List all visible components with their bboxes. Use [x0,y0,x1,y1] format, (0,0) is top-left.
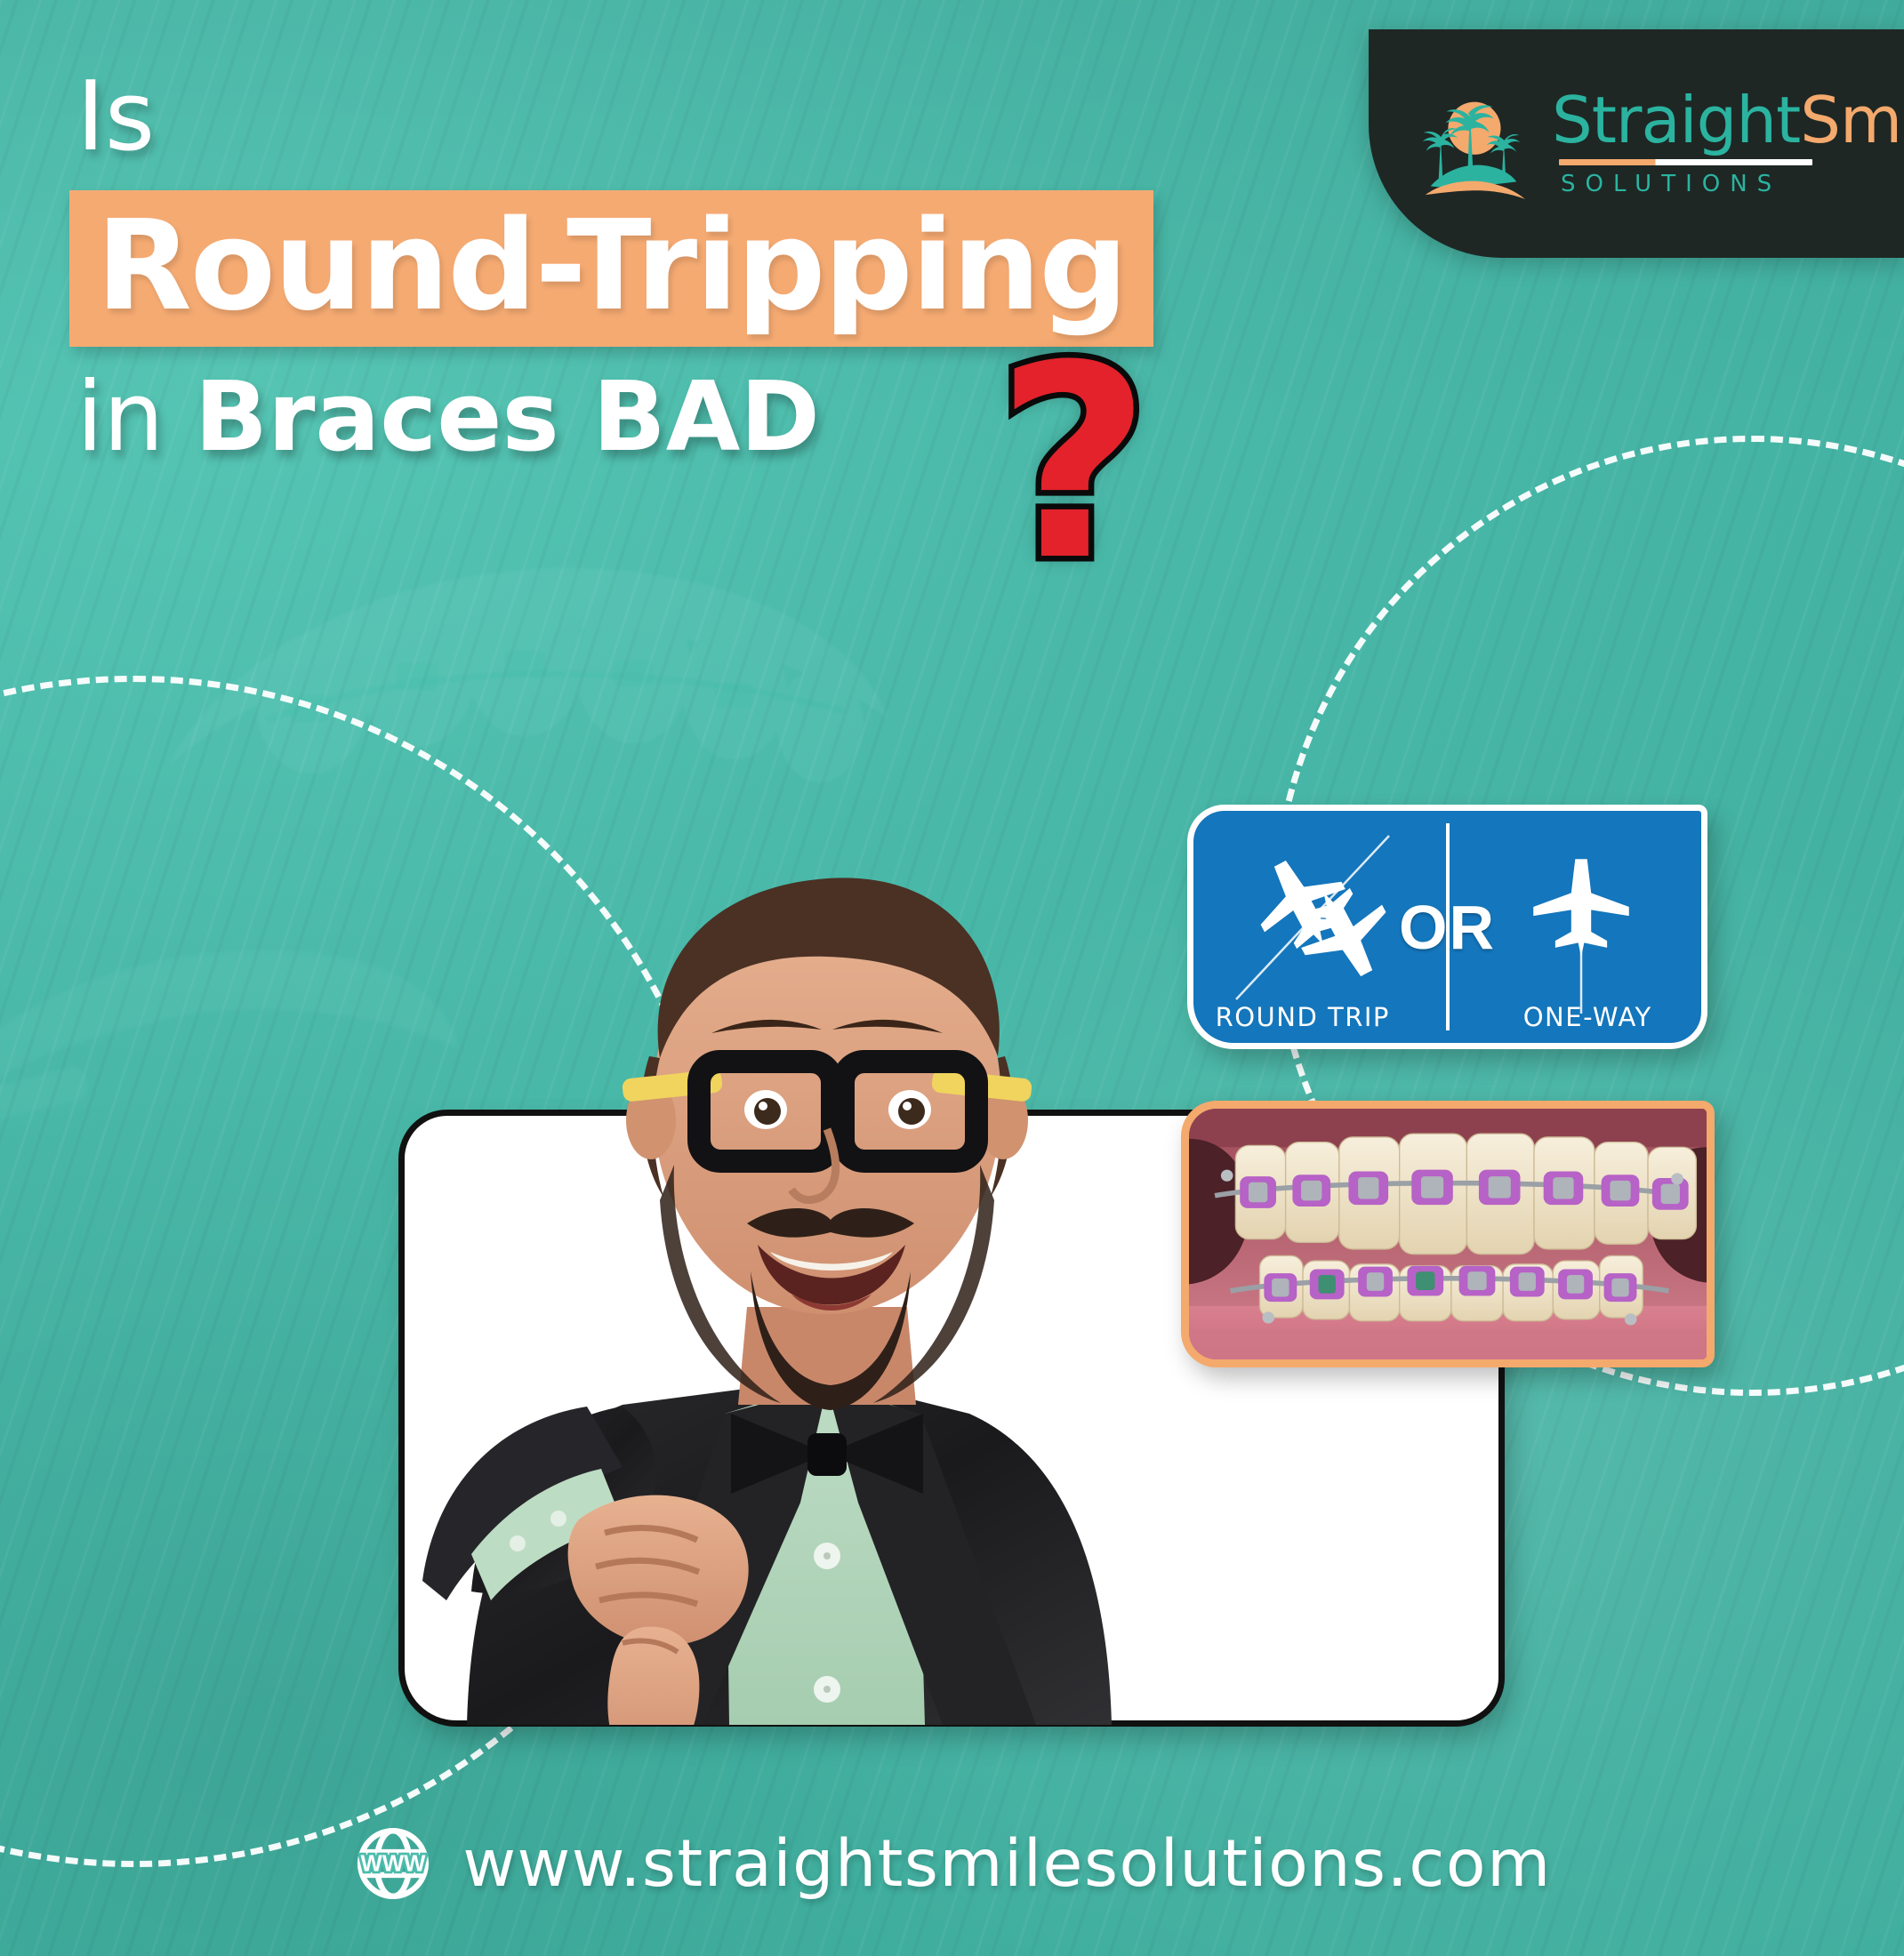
palm-tree-island-icon [1410,83,1532,205]
brand-wordmark: StraightSmile SOLUTIONS [1552,90,1904,197]
headline-line-3-prefix: in [76,362,195,473]
headline-line-1: Is [69,69,1225,165]
or-label: OR [1399,892,1496,963]
round-trip-or-one-way-card[interactable]: ROUND TRIP OR ONE-WAY [1187,805,1707,1049]
braces-teeth-photo [1189,1109,1707,1359]
brand-divider-rule [1559,159,1812,165]
website-url[interactable]: www.straightsmilesolutions.com [462,1826,1551,1902]
single-plane-one-way-icon [1499,830,1659,1017]
footer-bar: WWW www.straightsmilesolutions.com [0,1823,1904,1904]
brand-logo-panel[interactable]: StraightSmile SOLUTIONS [1369,29,1904,258]
brand-name-part2: Smile [1800,83,1904,157]
headline-line-3-bold: Braces BAD [195,362,820,473]
social-media-poster: StraightSmile SOLUTIONS Is Round-Trippin… [0,0,1904,1956]
one-way-caption: ONE-WAY [1448,1002,1702,1032]
headline-highlight-box: Round-Tripping [69,190,1153,347]
round-trip-caption: ROUND TRIP [1193,1002,1448,1032]
www-globe-icon: WWW [352,1823,434,1904]
braces-photo-card[interactable] [1181,1101,1715,1367]
brand-name-part1: Straight [1552,83,1800,157]
two-planes-round-trip-icon [1215,830,1428,1008]
brand-tagline: SOLUTIONS [1552,171,1904,197]
person-thumbs-down-photo [205,702,1236,1725]
www-icon-label: WWW [361,1851,427,1876]
headline-line-2: Round-Tripping [96,194,1127,339]
question-mark-graphic: ? [996,331,1151,597]
